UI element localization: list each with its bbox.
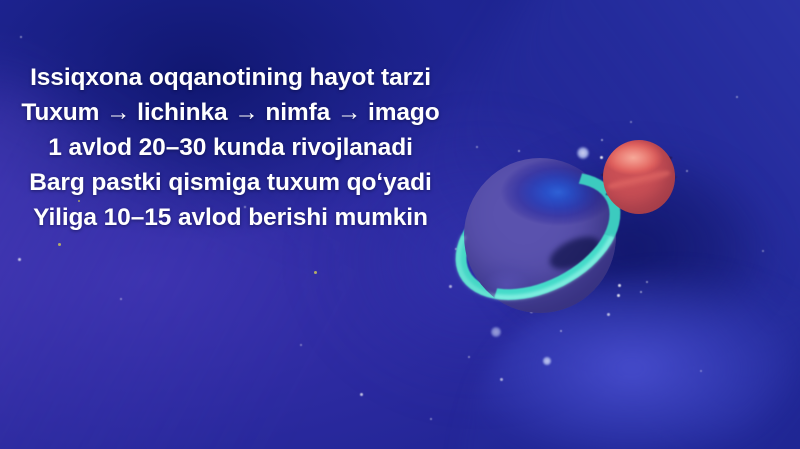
slide-title-line: Issiqxona oqqanotining hayot tarzi: [8, 60, 453, 95]
star-dot: [560, 330, 562, 332]
slide-body-line-2: 1 avlod 20–30 kunda rivojlanadi: [8, 130, 453, 165]
star-dot: [20, 36, 22, 38]
star-dot: [736, 96, 738, 98]
star-dot: [360, 393, 363, 396]
star-dot: [120, 298, 122, 300]
slide-body-line-4: Yiliga 10–15 avlod berishi mumkin: [8, 200, 453, 235]
star-dot: [646, 281, 648, 283]
star-dot-gold: [58, 243, 61, 246]
star-dot: [500, 378, 503, 381]
slide-text-block: Issiqxona oqqanotining hayot tarzi Tuxum…: [8, 60, 453, 235]
star-dot: [300, 344, 302, 346]
star-glow-large: [542, 356, 552, 366]
star-dot: [630, 121, 632, 123]
star-dot: [18, 258, 21, 261]
slide-body-line-1: Tuxum → lichinka → nimfa → imago: [8, 95, 453, 130]
star-glow-large: [490, 326, 502, 338]
star-dot-gold: [314, 271, 317, 274]
star-dot: [430, 418, 432, 420]
star-dot: [468, 356, 470, 358]
star-dot: [476, 146, 478, 148]
star-dot: [762, 250, 764, 252]
small-red-planet: [603, 140, 675, 214]
slide-body-line-3: Barg pastki qismiga tuxum qoʻyadi: [8, 165, 453, 200]
star-dot: [640, 291, 642, 293]
star-dot: [686, 170, 688, 172]
star-dot: [700, 370, 702, 372]
presentation-slide: Issiqxona oqqanotining hayot tarzi Tuxum…: [0, 0, 800, 449]
